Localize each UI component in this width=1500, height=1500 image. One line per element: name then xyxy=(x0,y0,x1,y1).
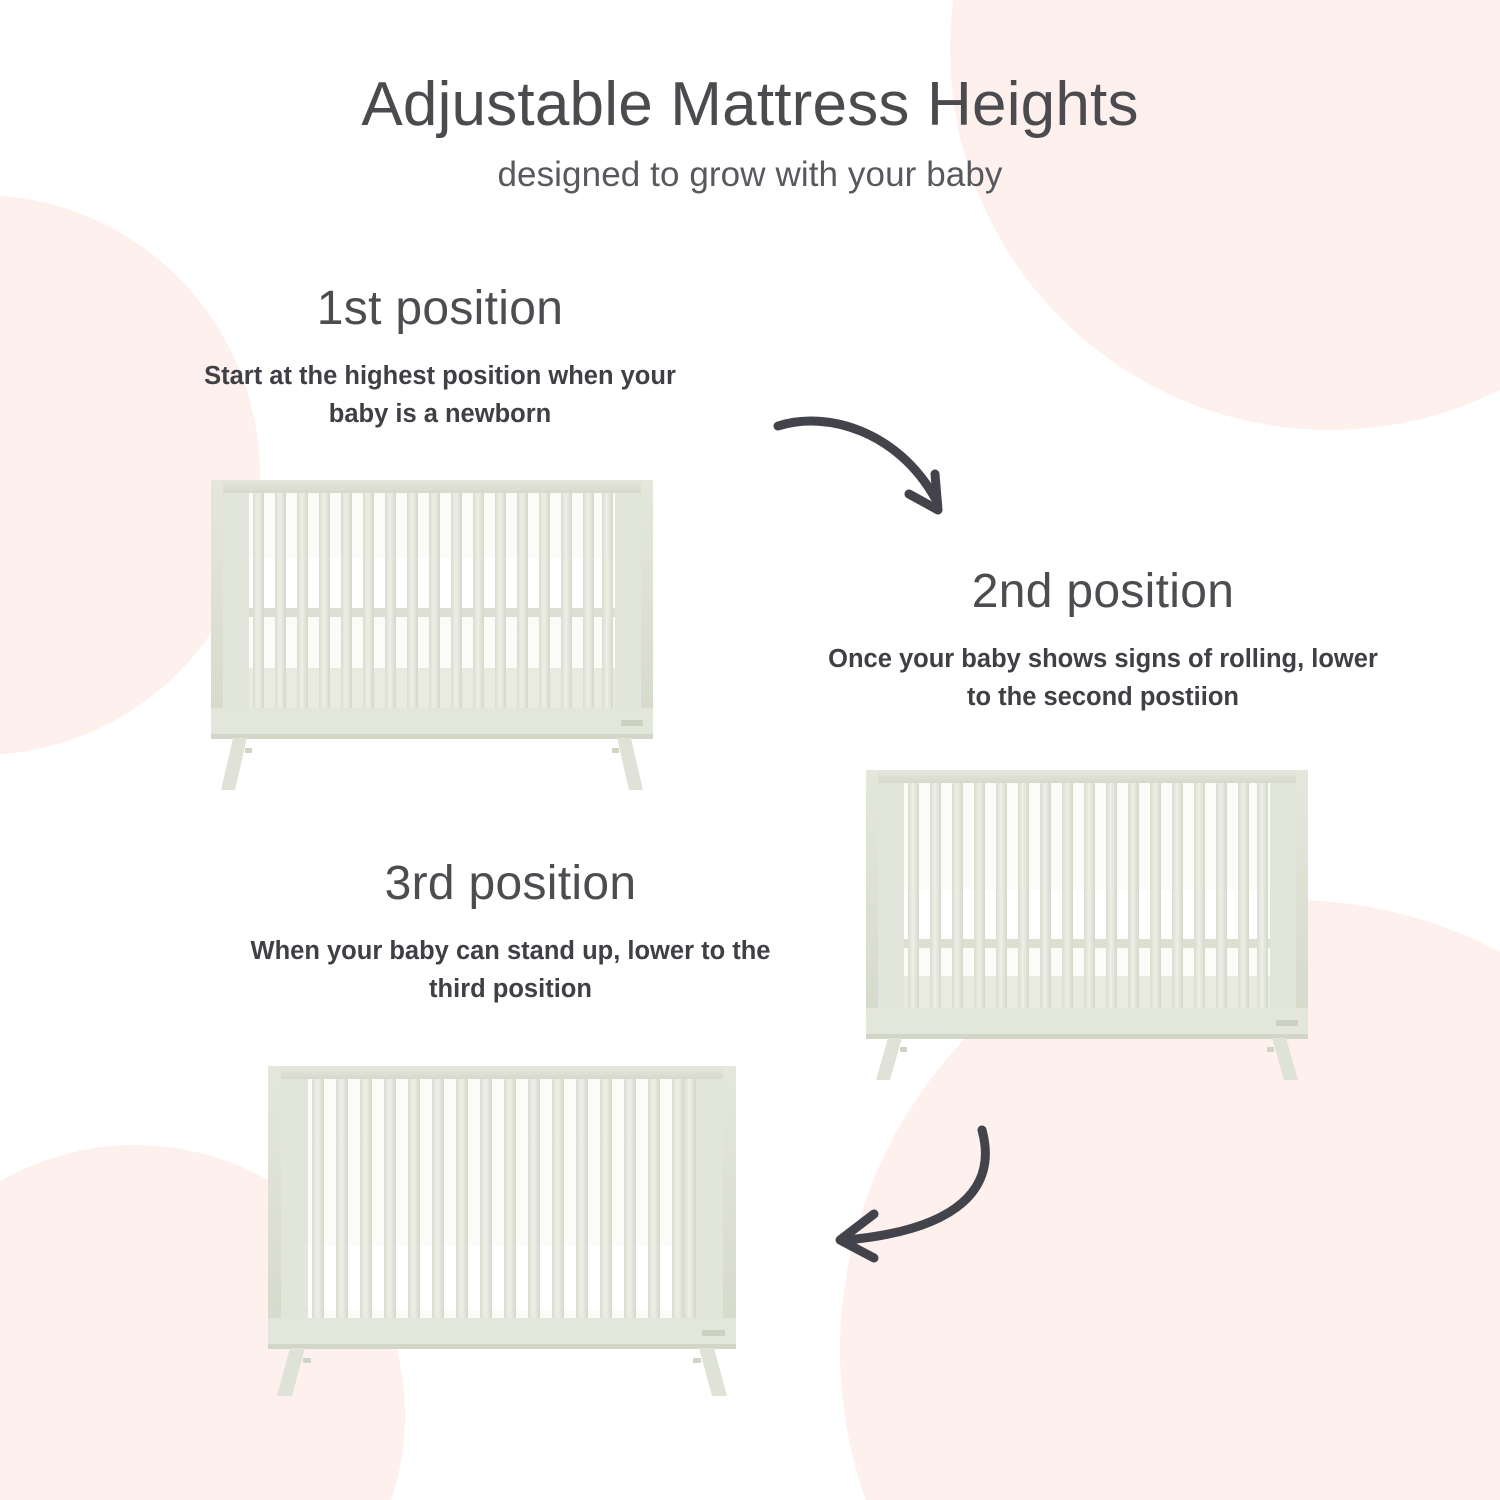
position-2-body: Once your baby shows signs of rolling, l… xyxy=(818,641,1388,716)
page-title: Adjustable Mattress Heights xyxy=(0,72,1500,139)
position-1-body: Start at the highest position when your … xyxy=(180,358,700,433)
position-3-text: 3rd position When your baby can stand up… xyxy=(228,858,793,1008)
crib-image-position-2 xyxy=(852,762,1322,1082)
position-3-body: When your baby can stand up, lower to th… xyxy=(228,933,793,1008)
arrow-2nd-to-3rd-icon xyxy=(812,1122,1040,1280)
position-1-text: 1st position Start at the highest positi… xyxy=(180,283,700,433)
position-2-heading: 2nd position xyxy=(818,566,1388,619)
position-2-text: 2nd position Once your baby shows signs … xyxy=(818,566,1388,716)
arrow-1st-to-2nd-icon xyxy=(772,402,998,528)
infographic-page: Adjustable Mattress Heights designed to … xyxy=(0,0,1500,1500)
crib-image-position-1 xyxy=(197,472,667,792)
crib-image-position-3 xyxy=(252,1058,752,1398)
header: Adjustable Mattress Heights designed to … xyxy=(0,0,1500,195)
position-3-heading: 3rd position xyxy=(228,858,793,911)
page-subtitle: designed to grow with your baby xyxy=(0,155,1500,195)
position-1-heading: 1st position xyxy=(180,283,700,336)
